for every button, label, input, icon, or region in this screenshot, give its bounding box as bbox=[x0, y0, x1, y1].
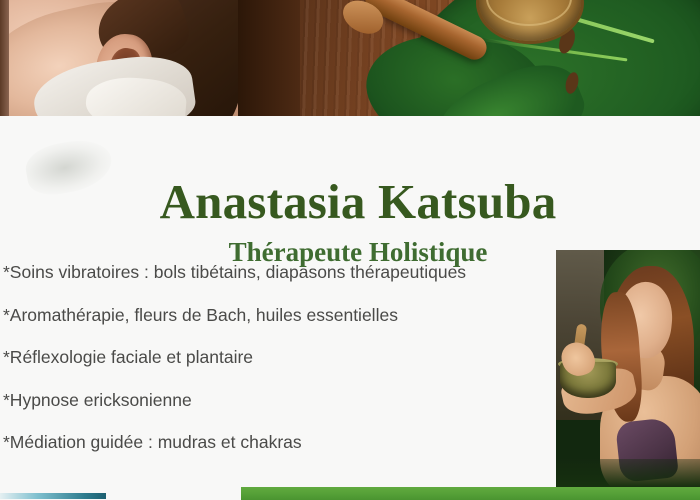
massage-photo bbox=[0, 0, 238, 116]
list-item: *Hypnose ericksonienne bbox=[3, 392, 551, 410]
singing-bowl-photo bbox=[238, 0, 700, 116]
bottom-blue-streak bbox=[0, 493, 106, 499]
therapist-portrait bbox=[556, 250, 700, 487]
photo-left-edge bbox=[0, 0, 9, 116]
list-item: *Médiation guidée : mudras et chakras bbox=[3, 434, 551, 452]
list-item: *Soins vibratoires : bols tibétains, dia… bbox=[3, 264, 551, 282]
list-item: *Aromathérapie, fleurs de Bach, huiles e… bbox=[3, 307, 551, 325]
wood-shadow-edge bbox=[238, 0, 300, 116]
services-list: *Soins vibratoires : bols tibétains, dia… bbox=[3, 264, 551, 477]
header-photo-band bbox=[0, 0, 700, 116]
list-item: *Réflexologie faciale et plantaire bbox=[3, 349, 551, 367]
page-title: Anastasia Katsuba bbox=[0, 177, 700, 226]
bottom-green-band bbox=[241, 487, 700, 500]
portrait-foreground bbox=[556, 459, 700, 487]
flyer-page: Anastasia Katsuba Thérapeute Holistique … bbox=[0, 0, 700, 500]
